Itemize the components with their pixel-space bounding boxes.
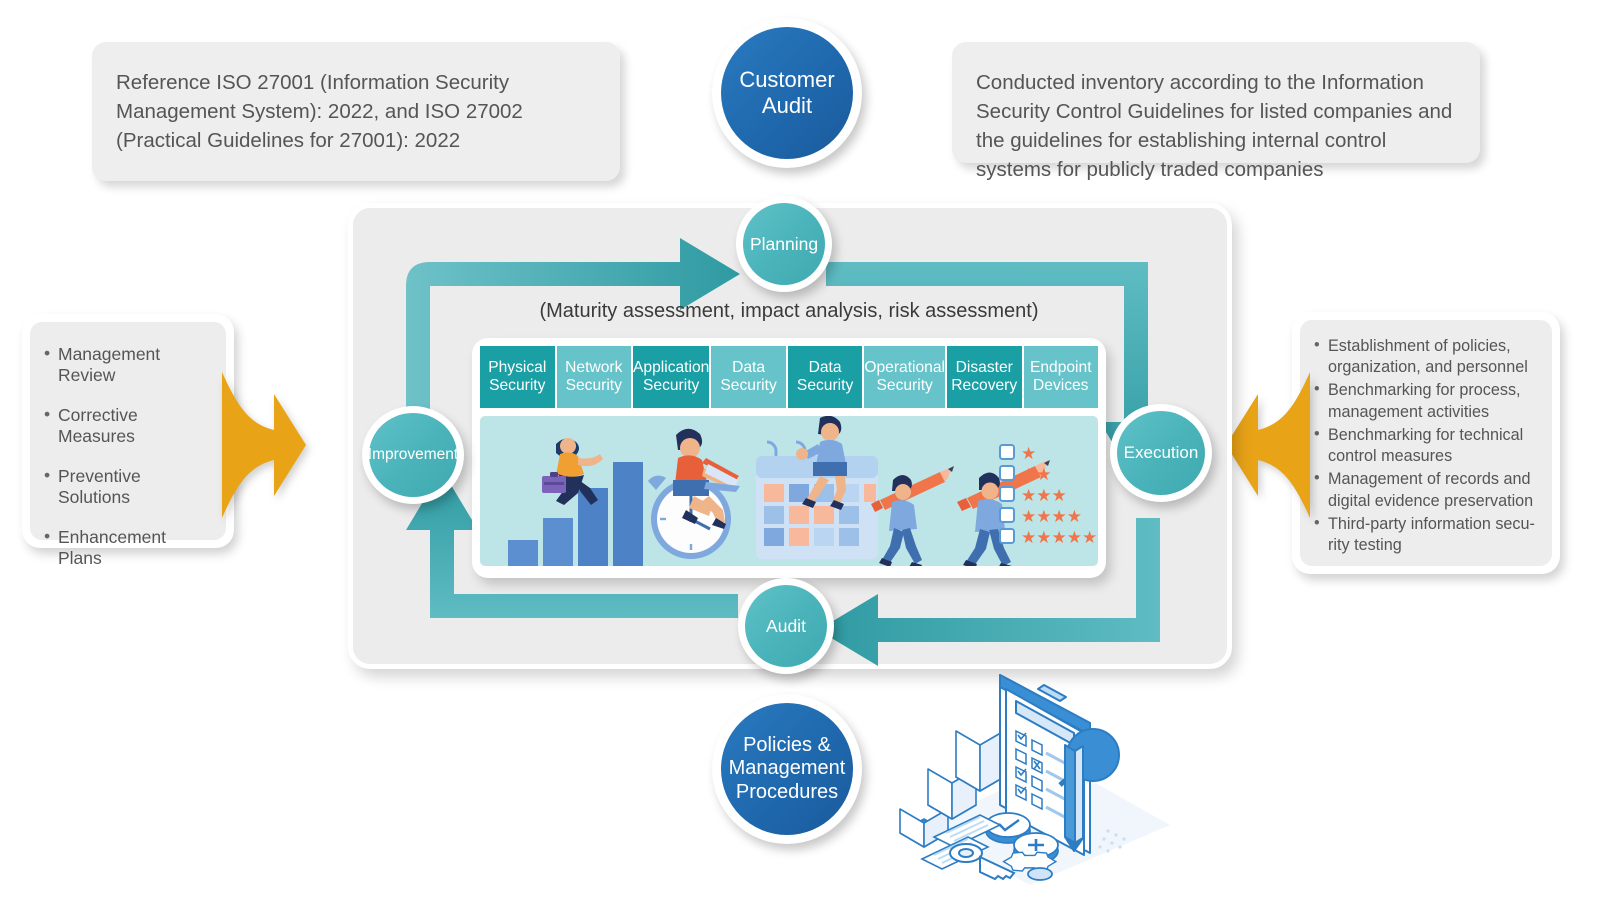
tab-data-security-2[interactable]: Data Security [788,346,863,408]
note-iso-reference: Reference ISO 27001 (Information Securit… [92,42,620,181]
node-audit[interactable]: Audit [738,578,834,674]
callout-left: Management Review Corrective Measures Pr… [22,314,234,548]
callout-right-body: Establishment of policies, organization,… [1300,320,1552,566]
person-pencil-icon-1 [871,466,954,566]
node-label-line3: Procedures [729,781,846,805]
tab-label-line2: Security [489,377,545,395]
list-item: Preventive Solutions [44,466,212,508]
node-improvement-label: Improvement [369,413,457,497]
tab-application-security[interactable]: Application Security [633,346,709,408]
node-execution[interactable]: Execution [1110,404,1212,502]
tab-network-security[interactable]: Network Security [557,346,632,408]
note-inventory: Conducted inventory according to the Inf… [952,42,1480,163]
node-planning-label: Planning [743,203,825,285]
callout-left-body: Management Review Corrective Measures Pr… [30,322,226,540]
tab-physical-security[interactable]: Physical Security [480,346,555,408]
tab-label-line1: Disaster [956,359,1013,377]
tab-endpoint-devices[interactable]: Endpoint Devices [1024,346,1099,408]
list-item: Benchmarking for technical control measu… [1314,425,1540,467]
arrow-right-icon [212,372,307,518]
tab-label-line2: Recovery [951,377,1017,395]
tab-label-line1: Operational [864,359,945,377]
node-label-line2: Audit [739,93,834,119]
improvement-items-list: Management Review Corrective Measures Pr… [44,344,212,569]
security-domains-card: Physical Security Network Security Appli… [472,338,1106,578]
tab-label-line1: Network [565,359,622,377]
node-customer-audit-disc: Customer Audit [721,27,853,159]
tab-label-line2: Devices [1033,377,1088,395]
audit-clipboard-illustration [860,645,1190,885]
node-policies-disc: Policies & Management Procedures [721,703,853,835]
star-row-1: ★ [1021,444,1036,464]
node-label-line1: Policies & [729,734,846,758]
node-planning[interactable]: Planning [736,196,832,292]
node-audit-label: Audit [745,585,827,667]
node-improvement[interactable]: Improvement [362,406,464,504]
tab-label-line2: Security [797,377,853,395]
assessment-illustration: ★ ★★ ★★★ ★★★★ ★★★★★★ [480,416,1098,566]
list-item: Management Review [44,344,212,386]
tab-label-line2: Security [877,377,933,395]
diagram-canvas: Reference ISO 27001 (Information Securit… [0,0,1600,900]
node-customer-audit[interactable]: Customer Audit [712,18,862,168]
tab-operational-security[interactable]: Operational Security [864,346,945,408]
calendar-icon [756,442,878,559]
node-label-line1: Customer [739,67,834,93]
node-label-line2: Management [729,757,846,781]
tab-label-line2: Security [566,377,622,395]
tab-data-security-1[interactable]: Data Security [711,346,786,408]
list-item: Management of records and digital eviden… [1314,469,1540,511]
list-item: Third-party information secu-rity testin… [1314,514,1540,556]
tab-disaster-recovery[interactable]: Disaster Recovery [947,346,1022,408]
tab-label-line1: Data [732,359,765,377]
list-item: Corrective Measures [44,405,212,447]
star-row-3: ★★★ [1021,486,1067,506]
star-rating-checklist: ★ ★★ ★★★ ★★★★ ★★★★★★ [1000,444,1098,548]
list-item: Enhancement Plans [44,527,212,569]
tab-label-line1: Data [809,359,842,377]
tab-label-line1: Physical [488,359,546,377]
callout-right: Establishment of policies, organization,… [1292,312,1560,574]
tab-label-line1: Application [633,359,709,377]
pencil-icon [1065,745,1083,851]
star-row-5: ★★★★★★ [1021,528,1098,548]
security-domain-tabs: Physical Security Network Security Appli… [480,346,1098,408]
tab-label-line2: Security [643,377,699,395]
star-row-2: ★★ [1021,465,1051,485]
execution-items-list: Establishment of policies, organization,… [1314,336,1540,556]
tab-label-line2: Security [720,377,776,395]
node-execution-label: Execution [1117,411,1205,495]
caption-maturity-assessment: (Maturity assessment, impact analysis, r… [472,300,1106,323]
tab-label-line1: Endpoint [1030,359,1092,377]
node-policies-management-procedures[interactable]: Policies & Management Procedures [712,694,862,844]
list-item: Establishment of policies, organization,… [1314,336,1540,378]
person-running-icon [542,438,603,505]
star-row-4: ★★★★ [1021,507,1082,527]
list-item: Benchmarking for process, management act… [1314,380,1540,422]
